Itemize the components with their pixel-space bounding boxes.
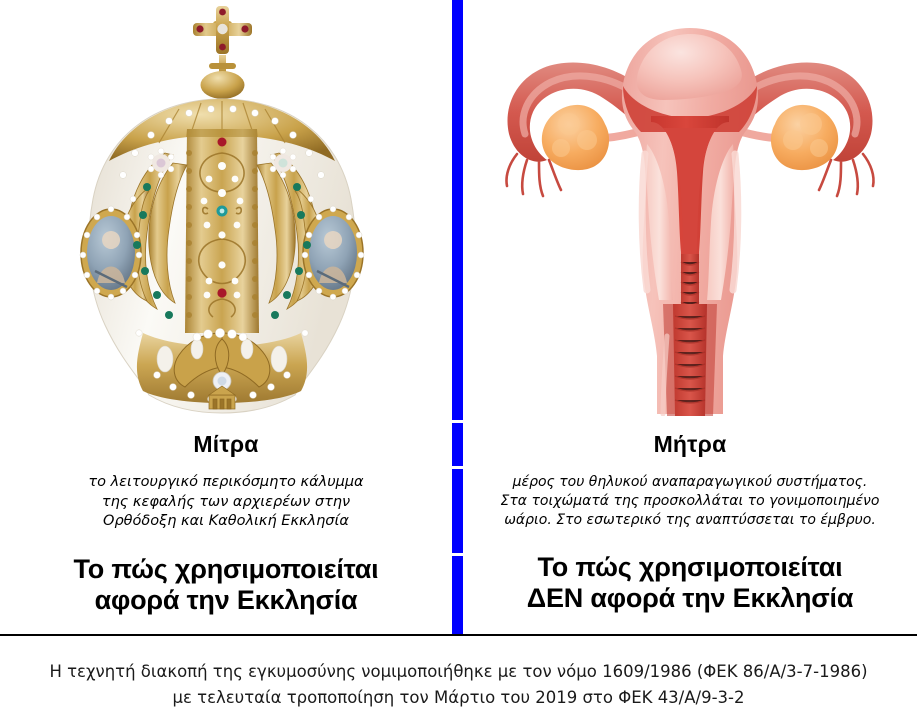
divider-gap (452, 420, 463, 423)
mitre-medallion-left (81, 209, 141, 297)
mitre-medallion-right (303, 209, 363, 297)
uterus-body (622, 28, 758, 416)
uterus-definition: μέρος του θηλυκού αναπαραγωγικού συστήμα… (471, 473, 909, 529)
uterus-figure (463, 0, 917, 420)
mitre-verdict: Το πώς χρησιμοποιείται αφορά την Εκκλησί… (8, 554, 444, 617)
panel-uterus: Μήτρα μέρος του θηλυκού αναπαραγωγικού σ… (463, 0, 917, 634)
divider-gap (452, 466, 463, 469)
mitre-definition: το λειτουργικό περικόσμητο κάλυμμα της κ… (8, 473, 444, 531)
vertical-divider (452, 0, 463, 634)
uterus-term: Μήτρα (471, 432, 909, 457)
mitre-term: Μίτρα (8, 432, 444, 457)
footer: Η τεχνητή διακοπή της εγκυμοσύνης νομιμο… (0, 636, 917, 720)
mitre-body (80, 99, 364, 413)
uterus-verdict: Το πώς χρησιμοποιείται ΔΕΝ αφορά την Εκκ… (471, 552, 909, 615)
divider-gap (452, 553, 463, 556)
bishop-mitre-photo (61, 3, 391, 418)
uterus-anatomy-illustration (495, 4, 885, 416)
mitre-figure (0, 0, 452, 420)
comparison-infographic: Μίτρα το λειτουργικό περικόσμητο κάλυμμα… (0, 0, 917, 720)
ovary-left (542, 105, 609, 170)
mitre-cross-finial (193, 6, 252, 99)
panel-mitre: Μίτρα το λειτουργικό περικόσμητο κάλυμμα… (0, 0, 452, 634)
comparison-area: Μίτρα το λειτουργικό περικόσμητο κάλυμμα… (0, 0, 917, 634)
ovary-right (771, 105, 838, 170)
footer-legal-note: Η τεχνητή διακοπή της εγκυμοσύνης νομιμο… (49, 645, 867, 710)
mitre-caption: Μίτρα το λειτουργικό περικόσμητο κάλυμμα… (0, 420, 452, 616)
uterus-caption: Μήτρα μέρος του θηλυκού αναπαραγωγικού σ… (463, 420, 917, 614)
